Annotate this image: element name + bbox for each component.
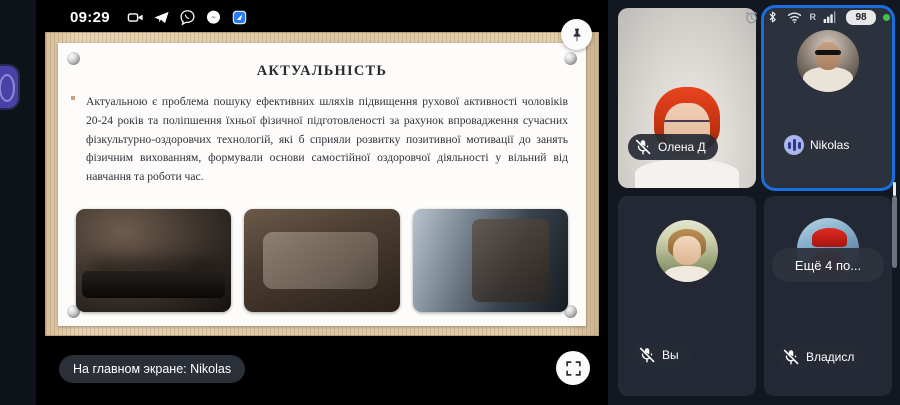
more-participants-label: Ещё 4 по...: [795, 258, 861, 273]
bubble-glyph: [0, 74, 15, 102]
slide-paper: АКТУАЛЬНІСТЬ Актуальною є проблема пошук…: [58, 43, 586, 326]
floating-bubble-icon[interactable]: [0, 64, 20, 110]
messenger-icon: [205, 9, 222, 26]
status-bar: 09:29: [36, 0, 608, 34]
barbell-deadlift-photo: [76, 209, 231, 312]
slide-title: АКТУАЛЬНІСТЬ: [58, 63, 586, 80]
system-status-icons: R 98: [744, 9, 891, 25]
viber-icon: [179, 9, 196, 26]
participant-name: Владисл: [806, 350, 854, 364]
shared-screen-stage[interactable]: 09:29: [36, 0, 608, 405]
main-screen-label: На главном экране: Nikolas: [59, 355, 245, 383]
telegram-icon: [153, 9, 170, 26]
more-participants-chip[interactable]: Ещё 4 по...: [772, 248, 884, 282]
bullet-icon: [71, 96, 75, 100]
pin-icon: [569, 27, 585, 43]
participant-name-chip: Владисл: [776, 344, 866, 370]
participant-name-chip: Nikolas: [778, 132, 861, 158]
participant-name-chip: Олена Д: [628, 134, 718, 160]
alarm-clock-icon: [744, 10, 759, 25]
participant-name: Олена Д: [658, 140, 706, 154]
mic-muted-icon: [638, 346, 656, 364]
slide-paragraph: Актуальною є проблема пошуку ефективних …: [86, 95, 568, 183]
avatar: [656, 220, 718, 282]
slide-body-text: Актуальною є проблема пошуку ефективних …: [86, 93, 568, 187]
video-call-screen: 09:29: [0, 0, 900, 405]
signal-bars-icon: [823, 10, 839, 24]
video-camera-icon: [127, 9, 144, 26]
mic-muted-icon: [782, 348, 800, 366]
mic-muted-icon: [634, 138, 652, 156]
app-blue-icon: [231, 9, 248, 26]
wifi-icon: [786, 10, 803, 25]
roaming-label: R: [810, 12, 817, 22]
avatar: [797, 30, 859, 92]
speaking-indicator-icon: [784, 135, 804, 155]
battery-indicator: 98: [846, 10, 876, 25]
participant-name: Вы: [662, 348, 679, 362]
pin-button[interactable]: [561, 19, 592, 50]
scrollbar-thumb[interactable]: [892, 196, 897, 268]
video-feed: [618, 8, 756, 188]
scrollbar-track: [893, 182, 896, 196]
participant-tile-olena[interactable]: Олена Д: [618, 8, 756, 188]
main-screen-text: На главном экране: Nikolas: [73, 362, 231, 376]
slide-photo-row: [76, 209, 568, 312]
status-clock: 09:29: [70, 9, 110, 26]
participants-panel: R 98 Олена Д: [608, 0, 900, 405]
dumbbell-row-photo: [413, 209, 568, 312]
bluetooth-icon: [766, 9, 779, 25]
participant-name: Nikolas: [810, 138, 849, 152]
participant-tile-nikolas[interactable]: Nikolas: [764, 8, 892, 188]
fullscreen-button[interactable]: [556, 351, 590, 385]
participant-tile-you[interactable]: Вы: [618, 196, 756, 396]
participant-tile-vladisl[interactable]: Ещё 4 по... Владисл: [764, 196, 892, 396]
presentation-board: АКТУАЛЬНІСТЬ Актуальною є проблема пошук…: [45, 32, 599, 336]
fullscreen-icon: [565, 360, 582, 377]
floor-crunch-photo: [244, 209, 399, 312]
recording-dot-icon: [883, 14, 890, 21]
participant-name-chip: Вы: [632, 342, 691, 368]
